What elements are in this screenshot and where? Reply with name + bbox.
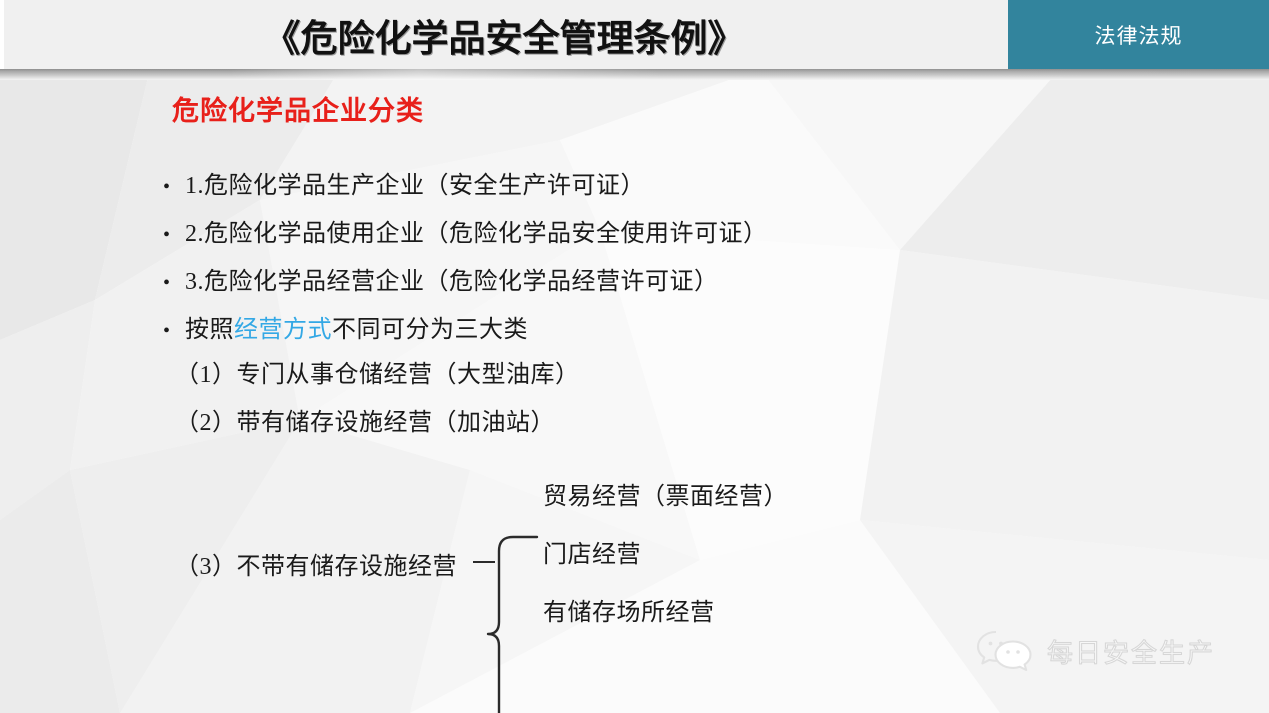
curly-brace-icon — [485, 534, 545, 713]
header-category-badge: 法律法规 — [1008, 0, 1269, 69]
list-item: （2）带有储存设施经营（加油站） — [175, 402, 935, 450]
page-title: 《危险化学品安全管理条例》 — [0, 0, 1008, 69]
list-item: • 3.危险化学品经营企业（危险化学品经营许可证） — [163, 261, 1063, 309]
list-item-highlighted: • 按照经营方式不同可分为三大类 — [163, 309, 1063, 357]
section-subtitle: 危险化学品企业分类 — [172, 89, 424, 128]
list-item-label: 3.危险化学品经营企业（危险化学品经营许可证） — [185, 261, 719, 296]
header-badge-label: 法律法规 — [1095, 20, 1183, 50]
list-item-prefix: 按照 — [185, 317, 234, 343]
brace-item-list: 贸易经营（票面经营） 门店经营 有储存场所经营 — [543, 464, 788, 638]
bullet-dot-icon: • — [163, 321, 185, 341]
list-item-highlight: 经营方式 — [234, 317, 332, 343]
wechat-icon — [975, 628, 1037, 674]
bullet-dot-icon: • — [163, 225, 185, 245]
brace-group: （3）不带有储存设施经营 贸易经营（票面经营） 门店经营 有储存场所经营 — [175, 464, 975, 684]
list-item: 门店经营 — [543, 522, 788, 580]
bullet-dot-icon: • — [163, 273, 185, 293]
list-item: 有储存场所经营 — [543, 580, 788, 638]
list-item: （1）专门从事仓储经营（大型油库） — [175, 354, 935, 402]
list-item-label: 2.危险化学品使用企业（危险化学品安全使用许可证） — [185, 213, 768, 248]
slide: 《危险化学品安全管理条例》 法律法规 危险化学品企业分类 • 1.危险化学品生产… — [0, 0, 1269, 713]
bullet-dot-icon: • — [163, 177, 185, 197]
list-item: • 1.危险化学品生产企业（安全生产许可证） — [163, 165, 1063, 213]
brace-group-label: （3）不带有储存设施经营 — [175, 546, 457, 581]
sub-item-list: （1）专门从事仓储经营（大型油库） （2）带有储存设施经营（加油站） — [175, 354, 935, 450]
slide-content: 危险化学品企业分类 • 1.危险化学品生产企业（安全生产许可证） • 2.危险化… — [0, 69, 1269, 713]
list-item-label: 1.危险化学品生产企业（安全生产许可证） — [185, 165, 645, 200]
list-item-label: 按照经营方式不同可分为三大类 — [185, 309, 528, 344]
list-item-suffix: 不同可分为三大类 — [332, 317, 528, 343]
list-item: 贸易经营（票面经营） — [543, 464, 788, 522]
watermark: 每日安全生产 — [975, 628, 1215, 674]
bullet-list: • 1.危险化学品生产企业（安全生产许可证） • 2.危险化学品使用企业（危险化… — [163, 165, 1063, 357]
watermark-label: 每日安全生产 — [1047, 633, 1215, 670]
list-item: • 2.危险化学品使用企业（危险化学品安全使用许可证） — [163, 213, 1063, 261]
